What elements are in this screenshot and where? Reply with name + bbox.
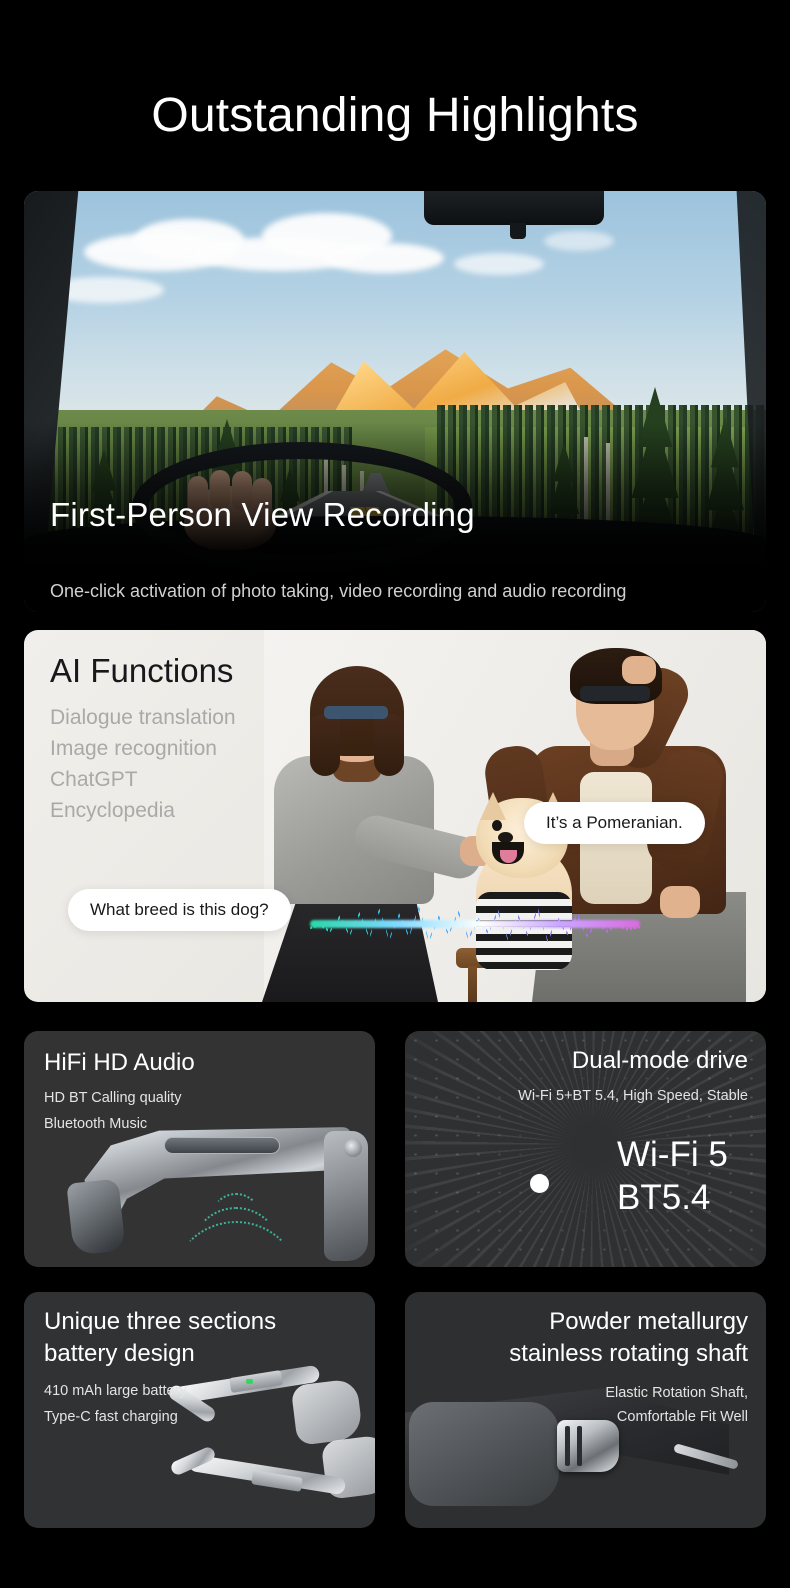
hinge-bar	[577, 1426, 582, 1466]
hero-title: First-Person View Recording	[50, 496, 475, 534]
ai-card-title: AI Functions	[50, 652, 233, 690]
dual-spec-bt: BT5.4	[617, 1176, 728, 1219]
dog-striped-shirt	[476, 892, 572, 970]
battery-card-title-line-1: Unique three sections	[44, 1306, 276, 1337]
dual-card-title: Dual-mode drive	[572, 1045, 748, 1076]
dual-spec-wifi: Wi-Fi 5	[617, 1133, 728, 1176]
audio-card-title: HiFi HD Audio	[44, 1047, 195, 1078]
feature-card-dual-mode-drive[interactable]: Dual-mode drive Wi-Fi 5+BT 5.4, High Spe…	[405, 1031, 766, 1267]
ai-feature-item: ChatGPT	[50, 764, 236, 795]
hero-subtitle: One-click activation of photo taking, vi…	[50, 574, 710, 608]
battery-indicator-led	[246, 1379, 253, 1384]
dog-eye	[492, 820, 502, 831]
wifi-signal-icon	[467, 1131, 607, 1235]
audio-waveform-core	[310, 920, 640, 928]
smart-glasses-woman	[324, 706, 388, 719]
lens-upper	[291, 1378, 364, 1446]
audio-card-line-2: Bluetooth Music	[44, 1111, 147, 1137]
speech-bubble-question: What breed is this dog?	[68, 889, 291, 931]
product-highlights-page: Outstanding Highlights	[0, 0, 790, 1588]
shaft-card-title-line-2: stainless rotating shaft	[509, 1338, 748, 1369]
transparent-glasses-image	[174, 1370, 375, 1520]
rearview-mirror-stem	[510, 223, 526, 239]
man-hand-holding-dog	[660, 886, 700, 918]
battery-card-line-2: Type-C fast charging	[44, 1404, 178, 1430]
shaft-card-title-line-1: Powder metallurgy	[549, 1306, 748, 1337]
hinge-screw	[344, 1139, 362, 1157]
ai-feature-item: Encyclopedia	[50, 795, 236, 826]
page-title: Outstanding Highlights	[0, 86, 790, 146]
dual-spec-text: Wi-Fi 5 BT5.4	[617, 1133, 728, 1219]
feature-card-rotating-shaft[interactable]: Powder metallurgy stainless rotating sha…	[405, 1292, 766, 1528]
man-hand-adjusting-glasses	[622, 656, 656, 684]
audio-card-line-1: HD BT Calling quality	[44, 1085, 182, 1111]
woman-hair-side	[310, 714, 340, 776]
battery-card-title-line-2: battery design	[44, 1338, 195, 1369]
hinge-bar	[565, 1426, 570, 1466]
smart-glasses-man	[580, 686, 650, 701]
shaft-card-line-2: Comfortable Fit Well	[617, 1404, 748, 1430]
feature-card-first-person-view[interactable]: First-Person View Recording One-click ac…	[24, 191, 766, 612]
ai-feature-item: Dialogue translation	[50, 702, 236, 733]
sound-wave-arc	[170, 1221, 302, 1267]
touch-panel-detail	[164, 1137, 280, 1154]
ai-feature-item: Image recognition	[50, 733, 236, 764]
feature-card-battery-design[interactable]: Unique three sections battery design 410…	[24, 1292, 375, 1528]
dark-lens	[409, 1402, 559, 1506]
rearview-mirror	[424, 191, 604, 225]
ai-feature-list: Dialogue translation Image recognition C…	[50, 702, 236, 826]
woman-hair-side	[374, 714, 404, 776]
metal-hinge	[557, 1420, 619, 1472]
dual-card-subtitle: Wi-Fi 5+BT 5.4, High Speed, Stable	[518, 1083, 748, 1109]
stool-leg	[468, 966, 477, 1002]
battery-card-line-1: 410 mAh large battery	[44, 1378, 187, 1404]
feature-card-ai-functions[interactable]: AI Functions Dialogue translation Image …	[24, 630, 766, 1002]
feature-card-hifi-audio[interactable]: HiFi HD Audio HD BT Calling quality Blue…	[24, 1031, 375, 1267]
temple-tip	[66, 1178, 125, 1255]
speech-bubble-answer: It’s a Pomeranian.	[524, 802, 705, 844]
shaft-card-line-1: Elastic Rotation Shaft,	[605, 1380, 748, 1406]
